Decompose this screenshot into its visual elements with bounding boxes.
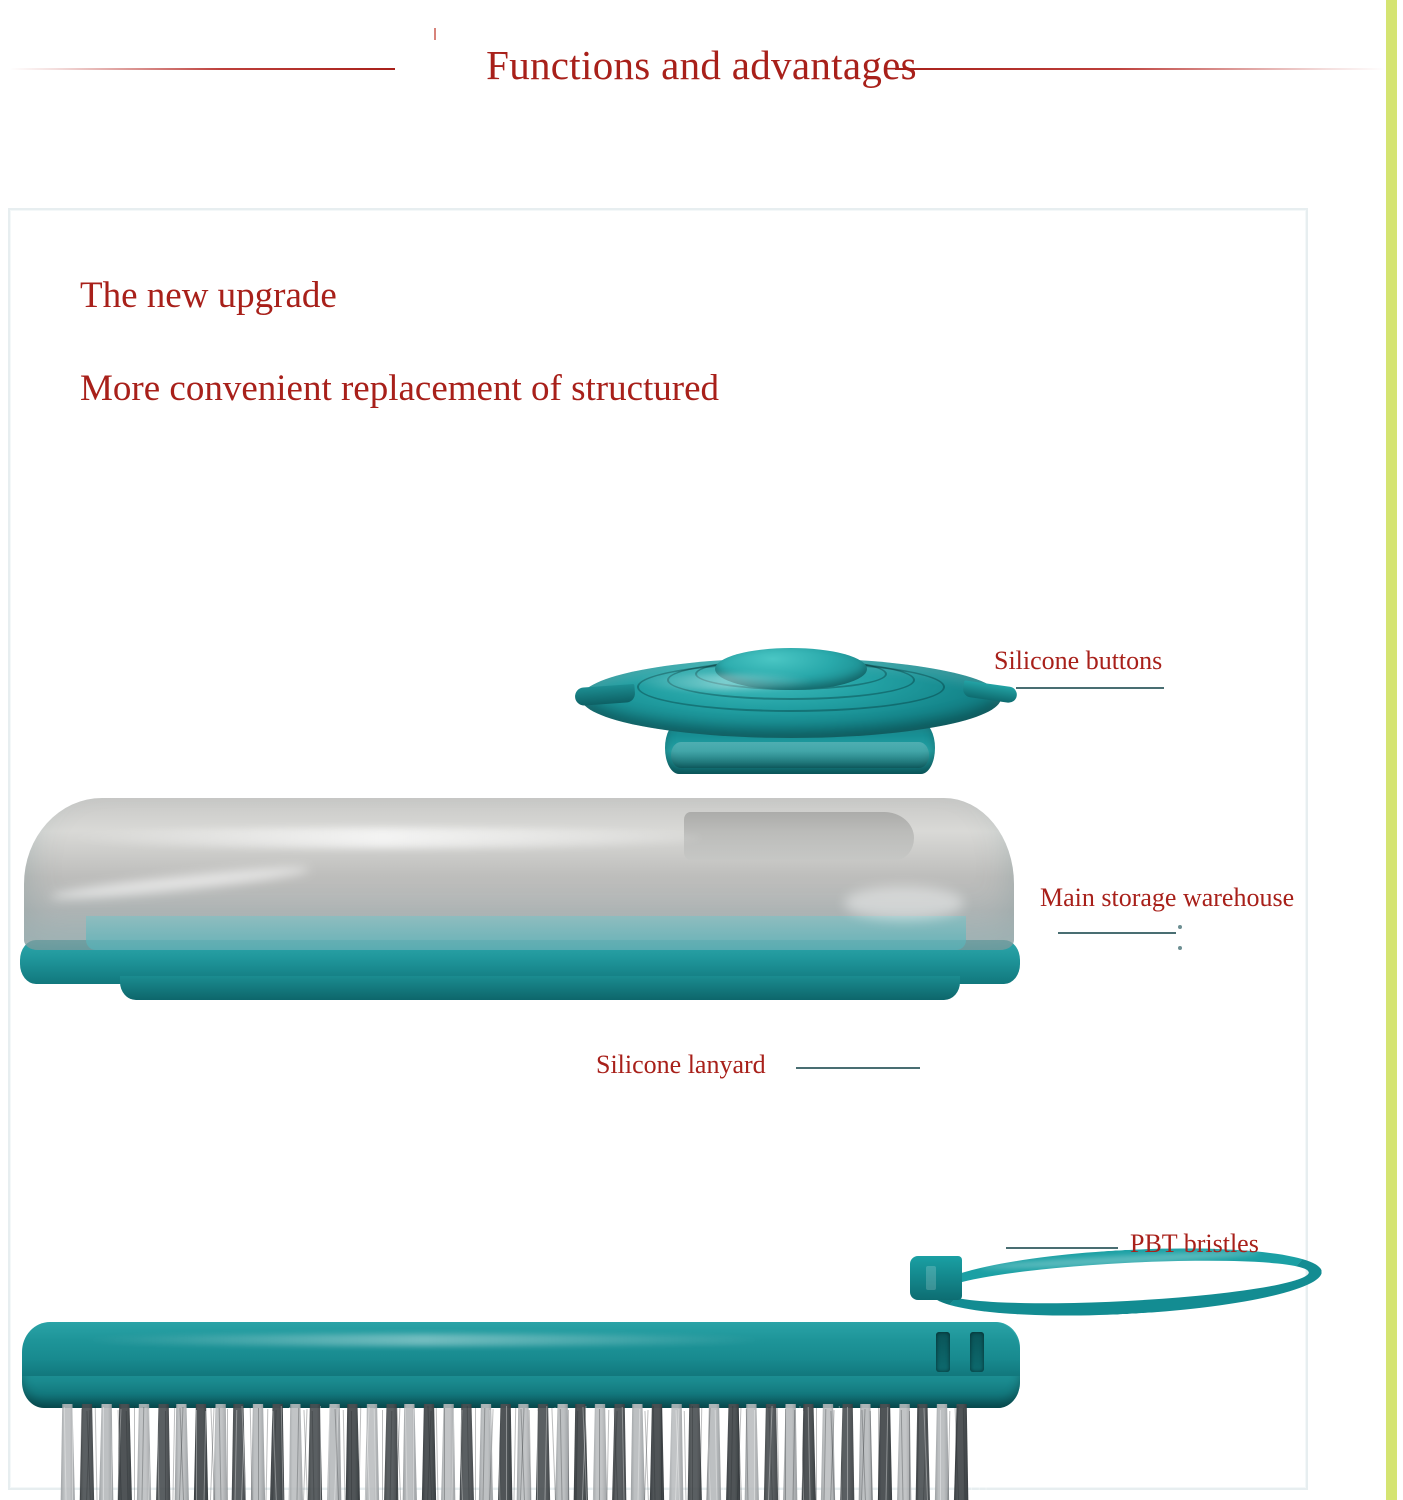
callout-silicone-lanyard: Silicone lanyard [596, 1048, 766, 1082]
edge-accent-stripe [1386, 0, 1397, 1500]
bristle-tuft [60, 1404, 76, 1500]
bristle-filament [351, 1411, 352, 1500]
brush-slot-1 [936, 1332, 950, 1372]
header: Functions and advantages [0, 0, 1403, 130]
brush-body-top [22, 1322, 1020, 1382]
bristle-filament [196, 1410, 197, 1500]
bristle-filament [754, 1410, 755, 1500]
bristle-filament [258, 1408, 259, 1500]
brush-slot-2 [970, 1332, 984, 1372]
callout-silicone-buttons: Silicone buttons [994, 644, 1162, 678]
dome-inner-teal-tray [86, 916, 966, 950]
part-brush-head [14, 1322, 1034, 1500]
bristle-filament [878, 1406, 879, 1500]
callout-pbt-bristles: PBT bristles [1130, 1227, 1259, 1261]
bristle-filament [977, 1410, 981, 1500]
bristle-filament [382, 1410, 383, 1500]
bristle-filament [971, 1409, 972, 1500]
bristle-filament [568, 1410, 569, 1500]
bristle-filament [165, 1411, 166, 1500]
bristle-filament [529, 1410, 533, 1500]
dome-highlight-right [844, 886, 964, 920]
bristle-filament [72, 1408, 73, 1500]
leader-dot-upper [1178, 925, 1182, 929]
bristle-filament [723, 1411, 724, 1500]
bristle-filament [289, 1407, 290, 1500]
bristle-filament [661, 1407, 662, 1500]
brush-highlight [74, 1334, 774, 1346]
bristle-filament [134, 1406, 135, 1500]
bristle-filament [537, 1411, 538, 1500]
bristle-filament [940, 1410, 941, 1500]
callout-main-storage-warehouse: Main storage warehouse [1040, 881, 1294, 915]
bristle-filament [413, 1409, 414, 1500]
bristle-filament [171, 1406, 174, 1500]
bristle-tuft [193, 1404, 209, 1500]
bristle-filament [103, 1407, 104, 1500]
bristle-filament [444, 1408, 445, 1500]
dome-translucent-cover [24, 798, 1014, 950]
lanyard-loop [929, 1240, 1324, 1324]
cap-skirt-lip [671, 742, 929, 768]
bristle-tuft [782, 1404, 798, 1500]
dome-teal-foot [120, 976, 960, 1000]
bristle-filament [684, 1411, 687, 1500]
leader-line-silicone-lanyard [796, 1067, 920, 1069]
bristle-filament [847, 1407, 848, 1500]
product-exploded-view [10, 210, 1310, 1492]
dome-notch [684, 812, 914, 860]
part-storage-dome [14, 790, 1034, 1020]
bristle-filament [188, 1409, 192, 1500]
bristle-filament [760, 1411, 764, 1500]
leader-line-pbt-bristles [1006, 1247, 1118, 1249]
bristle-filament [932, 1409, 936, 1500]
part-silicone-cap [575, 630, 1005, 780]
bristle-filament [777, 1408, 781, 1500]
bristle-filament [227, 1409, 228, 1500]
bristle-filament [599, 1409, 600, 1500]
leader-line-main-storage-warehouse [1058, 932, 1176, 934]
bristle-filament [816, 1408, 817, 1500]
leader-dot-lower [1178, 946, 1182, 950]
product-infographic-page: Functions and advantages The new upgrade… [0, 0, 1403, 1500]
bristle-filament [512, 1407, 515, 1500]
content-panel: The new upgrade More convenient replacem… [8, 208, 1308, 1490]
bristle-filament [692, 1406, 693, 1500]
bristle-tuft [649, 1404, 665, 1500]
pbt-bristle-field [60, 1404, 990, 1500]
part-silicone-lanyard [910, 1242, 1330, 1332]
lanyard-clip-notch [926, 1266, 936, 1290]
bristle-filament [909, 1411, 910, 1500]
bristle-filament [853, 1408, 856, 1500]
lanyard-clip [910, 1256, 962, 1300]
bristle-filament [785, 1409, 786, 1500]
cap-highlight [635, 674, 815, 690]
bristle-filament [320, 1406, 321, 1500]
bristle-filament [983, 1411, 989, 1500]
bristle-filament [630, 1408, 631, 1500]
bristle-filament [506, 1406, 507, 1500]
bristle-filament [95, 1406, 99, 1500]
bristle-filament [475, 1407, 476, 1500]
bristle-filament [436, 1407, 440, 1500]
page-title: Functions and advantages [0, 36, 1403, 94]
leader-line-silicone-buttons [1016, 687, 1164, 689]
dome-highlight-top [62, 828, 702, 848]
bristle-filament [264, 1409, 268, 1500]
